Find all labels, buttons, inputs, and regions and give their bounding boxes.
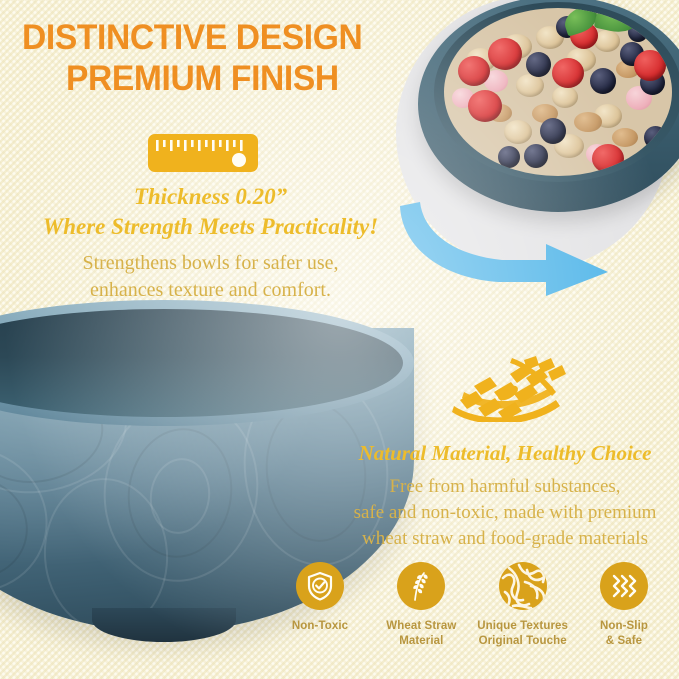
thickness-section: Thickness 0.20” Where Strength Meets Pra… [8, 182, 413, 305]
headline-line-1: DISTINCTIVE DESIGN [22, 20, 406, 57]
feature-non-toxic: Non-Toxic [272, 562, 368, 634]
ruler-icon [148, 134, 258, 172]
wheat-sheaf-icon [452, 356, 574, 422]
feature-wheat-straw: Wheat Straw Material [373, 562, 469, 649]
natural-body-line-2: safe and non-toxic, made with premium [332, 500, 678, 526]
feature-label-line-2: Material [373, 634, 469, 649]
bowl-inner-cavity [0, 309, 403, 417]
feature-label-line-2: & Safe [576, 634, 672, 649]
feature-label: Unique Textures Original Touche [475, 619, 571, 649]
zigzag-grip-icon [610, 573, 638, 599]
feature-label: Wheat Straw Material [373, 619, 469, 649]
feature-label-line-1: Wheat Straw [373, 619, 469, 634]
shield-check-icon [306, 571, 334, 601]
thickness-title-line-1: Thickness 0.20” [8, 182, 413, 212]
feature-label-line-2: Original Touche [475, 634, 571, 649]
feature-label-line-1: Non-Toxic [272, 619, 368, 634]
product-infographic: DISTINCTIVE DESIGN PREMIUM FINISH Thickn… [0, 0, 679, 679]
headline-line-2: PREMIUM FINISH [66, 61, 408, 98]
feature-icon-circle [397, 562, 445, 610]
natural-body-line-1: Free from harmful substances, [332, 474, 678, 500]
feature-label-line-1: Unique Textures [475, 619, 571, 634]
thickness-body-line-2: enhances texture and comfort. [8, 277, 413, 305]
feature-non-slip: Non-Slip & Safe [576, 562, 672, 649]
feature-icon-circle [499, 562, 547, 610]
page-title: DISTINCTIVE DESIGN PREMIUM FINISH [22, 20, 422, 98]
feature-unique-textures: Unique Textures Original Touche [475, 562, 571, 649]
thickness-body-line-1: Strengthens bowls for safer use, [8, 250, 413, 278]
feature-icon-circle [600, 562, 648, 610]
bowl-foot-ring [92, 608, 236, 642]
wheat-stalk-icon [407, 570, 435, 602]
feature-icon-circle [296, 562, 344, 610]
feature-badges-row: Non-Toxic [272, 562, 672, 649]
feature-label: Non-Toxic [272, 619, 368, 634]
feature-label-line-1: Non-Slip [576, 619, 672, 634]
texture-swirl-icon [499, 562, 547, 610]
curved-blue-arrow-icon [398, 176, 614, 296]
feature-label: Non-Slip & Safe [576, 619, 672, 649]
thickness-title-line-2: Where Strength Meets Practicality! [8, 212, 413, 242]
natural-material-section: Natural Material, Healthy Choice Free fr… [332, 440, 678, 552]
natural-body-line-3: wheat straw and food-grade materials [332, 526, 678, 552]
food-contents [444, 8, 672, 176]
bowl-interior [434, 2, 679, 182]
natural-title: Natural Material, Healthy Choice [332, 440, 678, 468]
